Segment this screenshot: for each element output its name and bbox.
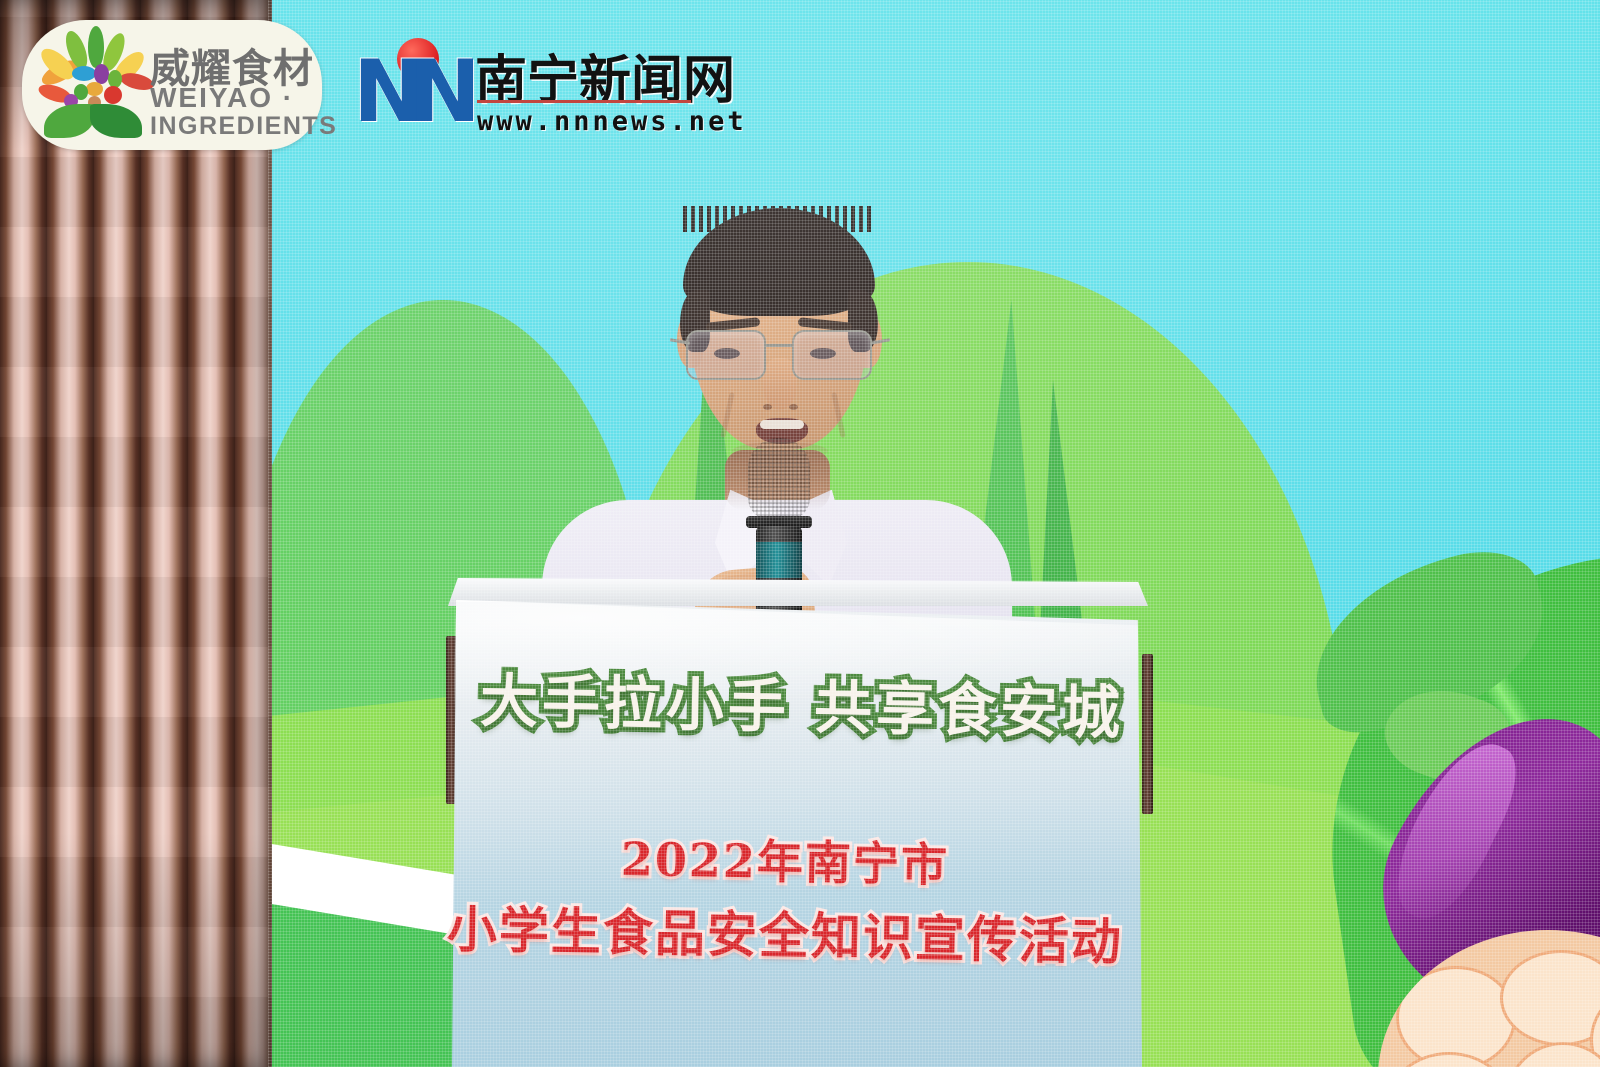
podium-slogan: 大手拉小手 共享食安城 (479, 654, 1120, 750)
vegetable-basket-icon (34, 24, 156, 146)
watermark-weiyao-logo: 威耀食材 WEIYAO · INGREDIENTS (22, 20, 322, 150)
nnnews-divider (477, 100, 691, 103)
podium-top-edge (448, 578, 1148, 606)
watermark-nnnews-logo: NN 南宁新闻网 www.nnnews.net (345, 36, 695, 148)
podium-title-line-2: 小学生食品安全知识宣传活动 (439, 889, 1130, 974)
podium-title-line-1: 2022年南宁市 (439, 819, 1130, 898)
teeth (760, 420, 804, 429)
weiyao-en-line-2: INGREDIENTS (150, 112, 337, 141)
podium-post-right (1142, 654, 1153, 814)
nostril-right (789, 404, 798, 410)
pole-texture (0, 0, 272, 1067)
microphone-accent-band (756, 542, 802, 578)
eyeglasses-icon (686, 330, 874, 382)
nnnews-mark-icon: NN (353, 64, 469, 126)
foreground-wooden-poles (0, 0, 272, 1067)
glasses-lens-right (792, 330, 872, 380)
nnnews-url: www.nnnews.net (477, 106, 747, 137)
glasses-lens-left (686, 330, 766, 380)
news-photo: 大手拉小手 共享食安城 2022年南宁市 小学生食品安全知识宣传活动 (0, 0, 1600, 1067)
nostril-left (763, 404, 772, 410)
podium: 大手拉小手 共享食安城 2022年南宁市 小学生食品安全知识宣传活动 (440, 578, 1156, 1067)
microphone-icon (748, 438, 810, 520)
weiyao-en-line-1: WEIYAO · (150, 82, 294, 114)
glasses-bridge (766, 344, 792, 347)
hairline-texture (683, 206, 875, 232)
